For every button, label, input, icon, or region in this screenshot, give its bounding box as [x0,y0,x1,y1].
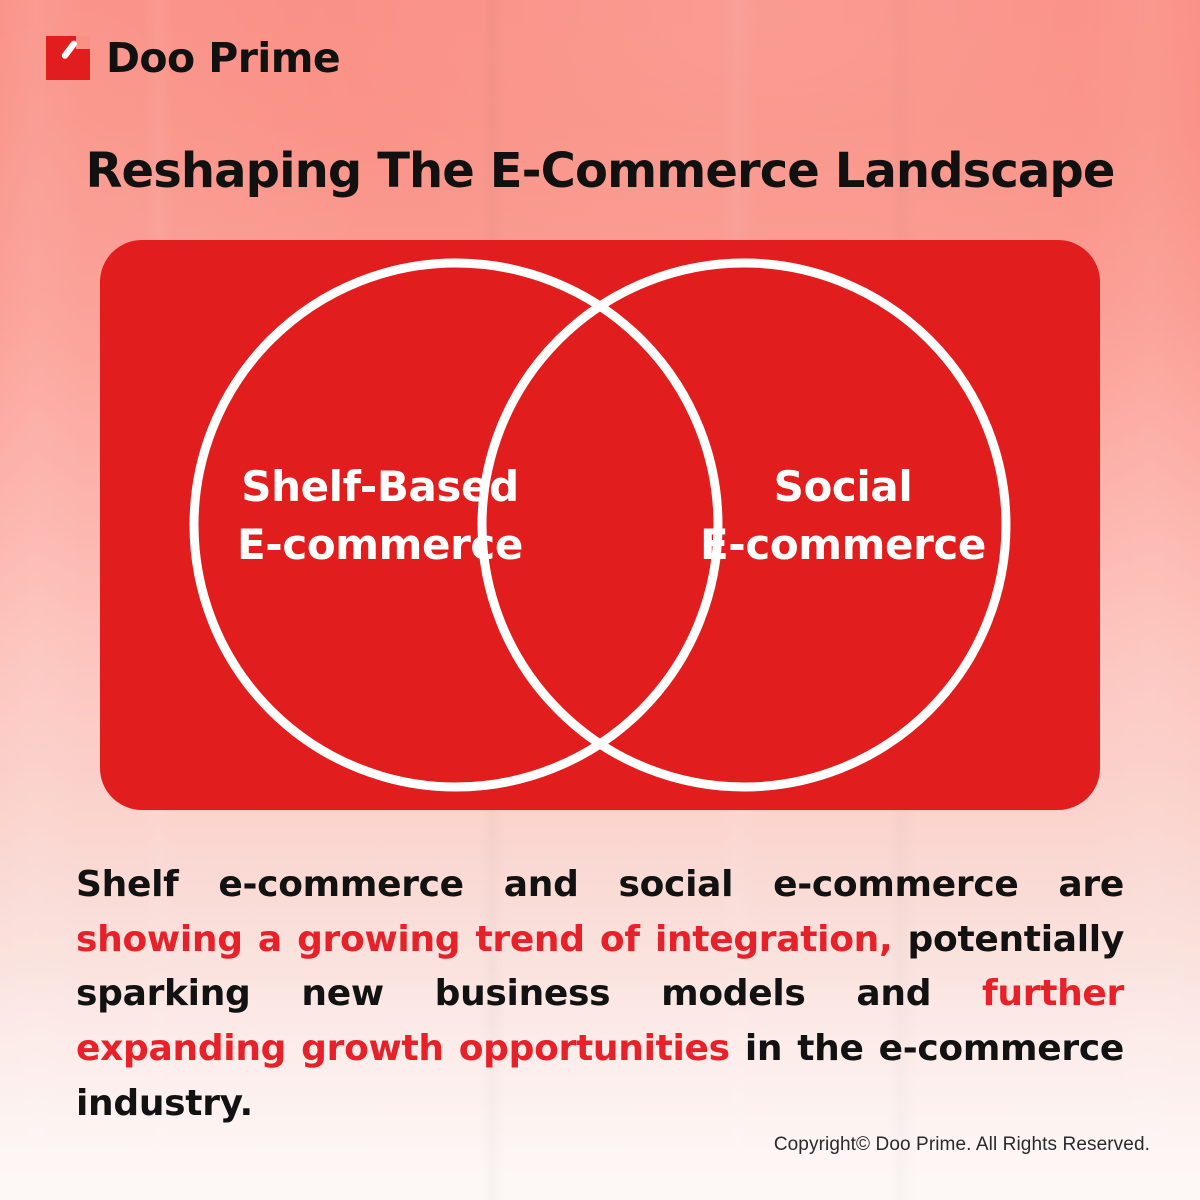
brand-header: Doo Prime [46,36,340,80]
infographic-poster: Doo Prime Reshaping The E-Commerce Lands… [0,0,1200,1200]
venn-label-right-line1: Social [608,458,1078,516]
venn-label-left-line2: E-commerce [130,516,630,574]
brand-wordmark: Doo Prime [106,38,340,79]
venn-diagram-card: Shelf-Based E-commerce Social E-commerce [100,240,1100,810]
page-title: Reshaping The E-Commerce Landscape [0,143,1200,199]
venn-label-right-line2: E-commerce [608,516,1078,574]
doo-prime-mark-icon [46,36,90,80]
copyright-notice: Copyright© Doo Prime. All Rights Reserve… [774,1134,1150,1156]
body-paragraph: Shelf e-commerce and social e-commerce a… [76,858,1124,1132]
body-highlight-span: showing a growing trend of integration, [76,919,892,960]
venn-label-left: Shelf-Based E-commerce [130,458,630,574]
venn-label-left-line1: Shelf-Based [130,458,630,516]
body-text-span: Shelf e-commerce and social e-commerce a… [76,864,1124,905]
venn-label-right: Social E-commerce [608,458,1078,574]
